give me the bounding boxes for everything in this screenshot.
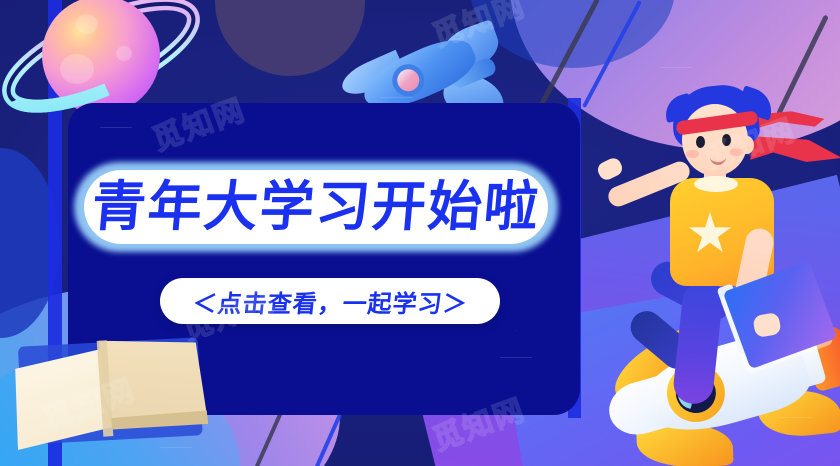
banner-title: 青年大学习开始啦 — [66, 154, 566, 260]
promo-banner: 青年大学习开始啦 ＜点击查看，一起学习＞ — [0, 0, 840, 466]
open-book-icon — [7, 322, 214, 454]
student-character — [612, 78, 840, 408]
title-text: 青年大学习开始啦 — [90, 180, 543, 234]
cta-button[interactable]: ＜点击查看，一起学习＞ — [160, 278, 500, 324]
cta-button-label: ＜点击查看，一起学习＞ — [191, 284, 470, 319]
